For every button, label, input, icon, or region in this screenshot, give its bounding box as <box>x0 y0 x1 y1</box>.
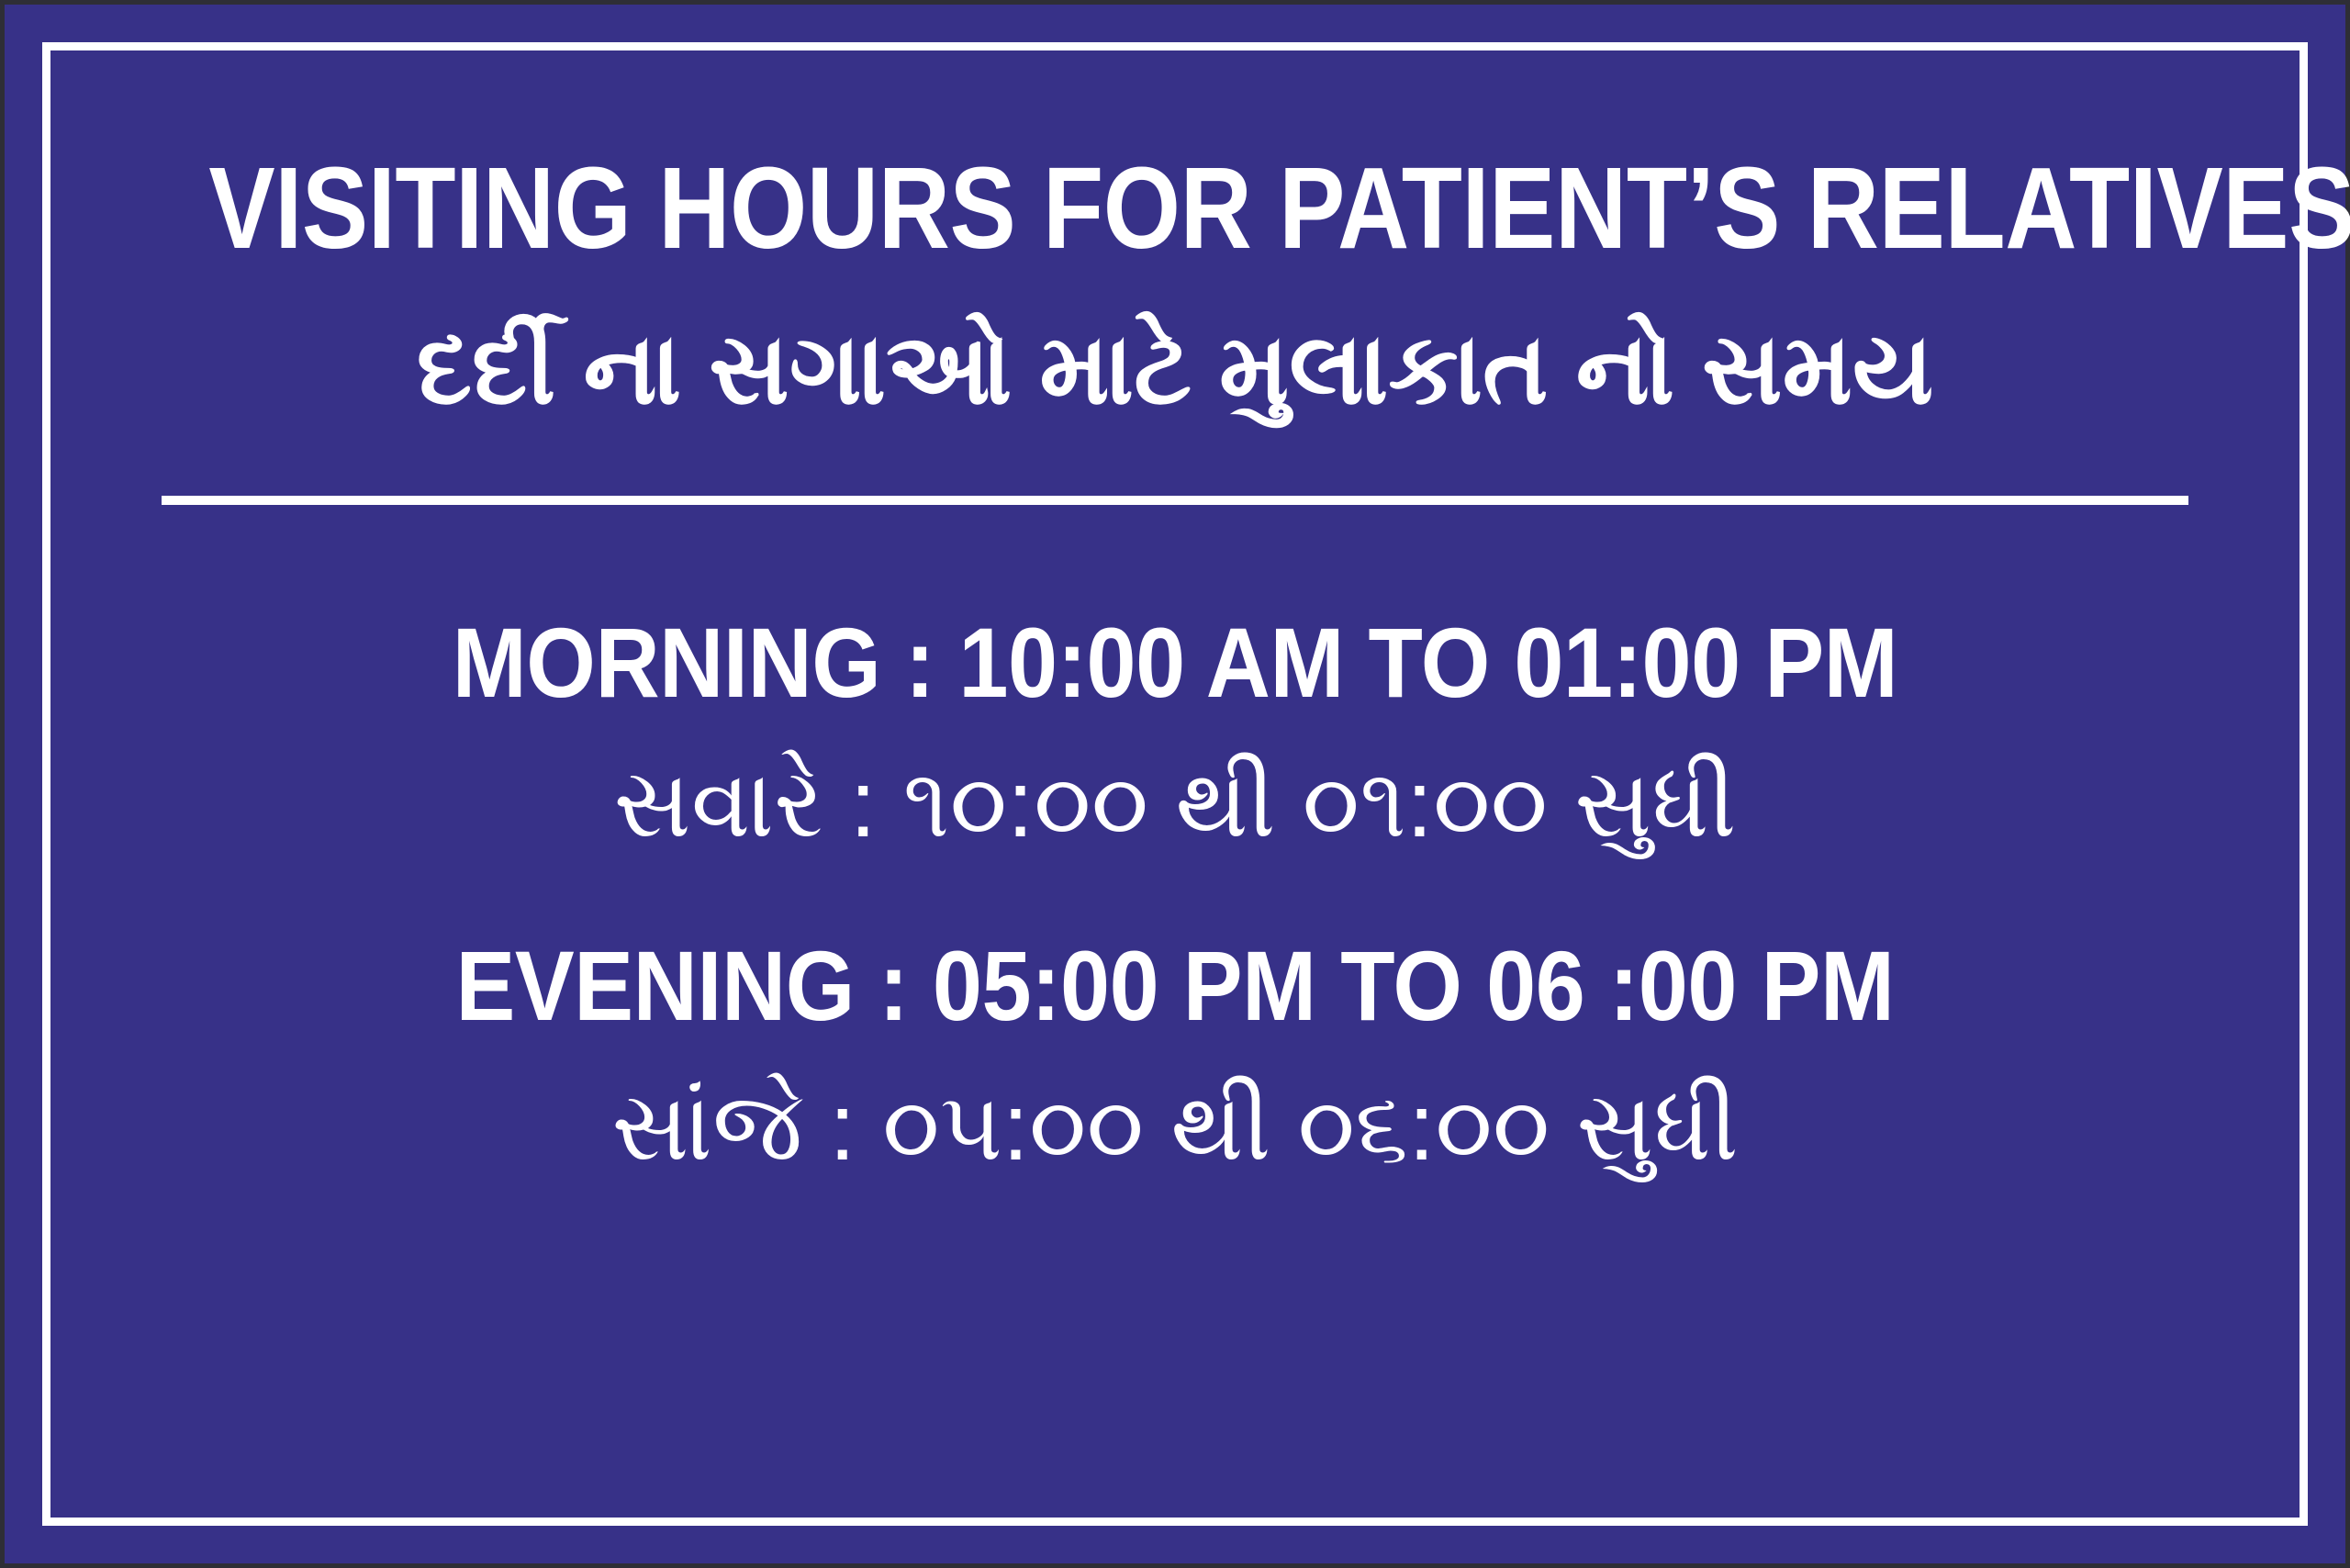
sign-content: VISITING HOURS FOR PATIENT’S RELATIVES દ… <box>51 51 2299 1517</box>
page-title-english: VISITING HOURS FOR PATIENT’S RELATIVES <box>208 151 2141 266</box>
visiting-hours-sign: VISITING HOURS FOR PATIENT’S RELATIVES દ… <box>0 0 2350 1568</box>
morning-hours-gujarati: સવારે : ૧૦:૦૦ થી ૦૧:૦૦ સુધી <box>51 712 2299 852</box>
visiting-hours-schedule: MORNING : 10:00 AM TO 01:00 PM સવારે : ૧… <box>51 505 2299 1175</box>
morning-hours-english: MORNING : 10:00 AM TO 01:00 PM <box>163 613 2186 712</box>
page-title-gujarati: દર્દી ના સગાઓ માટે મુલાકાત નો સમય <box>51 266 2299 419</box>
divider-container <box>51 419 2299 505</box>
evening-hours-gujarati: સાંજે : ૦૫:૦૦ થી ૦૬:૦૦ સુધી <box>51 1036 2299 1175</box>
horizontal-divider-rule <box>162 496 2188 505</box>
sign-header: VISITING HOURS FOR PATIENT’S RELATIVES દ… <box>51 51 2299 419</box>
evening-hours-english: EVENING : 05:00 PM TO 06 :00 PM <box>163 852 2186 1036</box>
